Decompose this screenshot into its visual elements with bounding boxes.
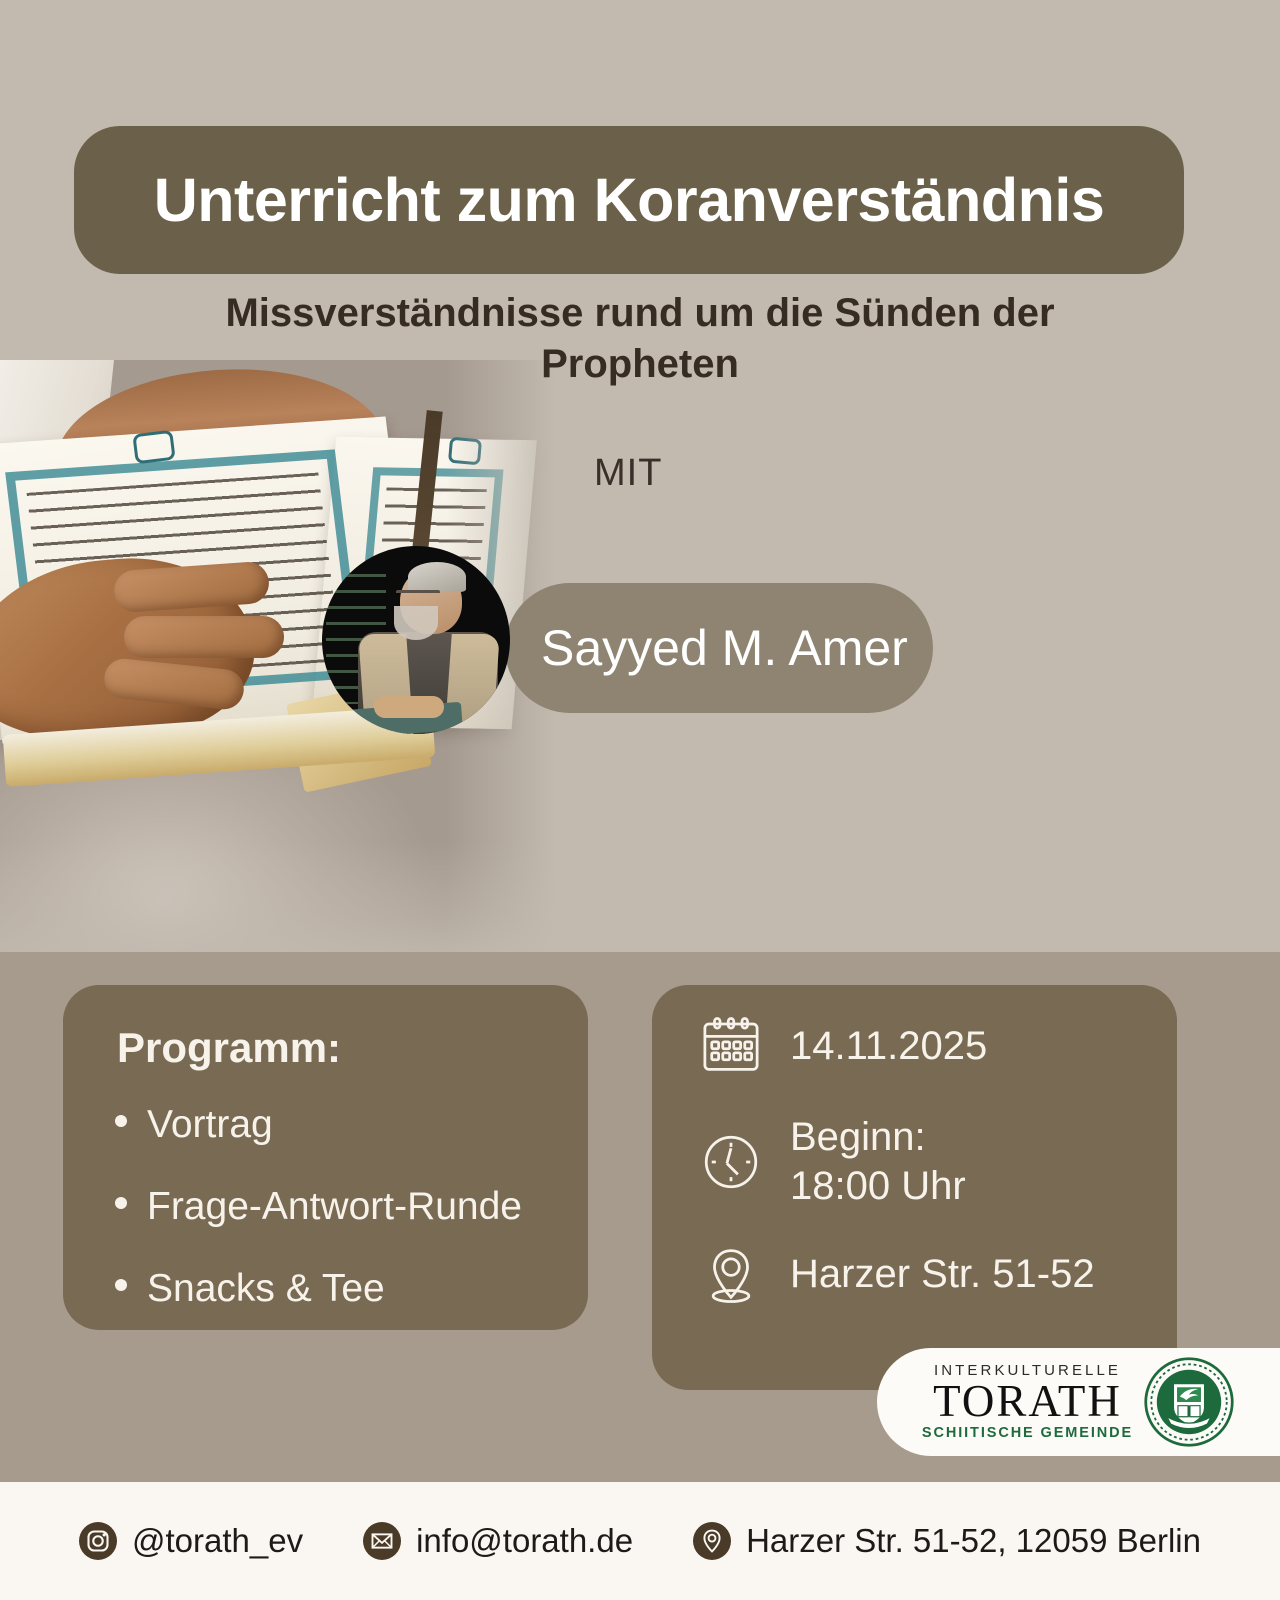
program-title: Programm: [117,1024,341,1072]
email-address: info@torath.de [416,1522,633,1560]
organization-logo: INTERKULTURELLE TORATH SCHIITISCHE GEMEI… [877,1348,1280,1456]
event-time: Beginn: 18:00 Uhr [790,1113,966,1211]
envelope-icon [363,1522,401,1560]
footer-instagram[interactable]: @torath_ev [79,1522,303,1560]
footer-address[interactable]: Harzer Str. 51-52, 12059 Berlin [693,1522,1201,1560]
time-value: 18:00 Uhr [790,1164,966,1208]
list-item: Frage-Antwort-Runde [115,1185,585,1229]
event-date: 14.11.2025 [790,1022,987,1071]
detail-row-location: Harzer Str. 51-52 [692,1241,1095,1307]
list-item: Vortrag [115,1103,585,1147]
program-list: Vortrag Frage-Antwort-Runde Snacks & Tee [115,1103,585,1349]
avatar [322,546,510,734]
detail-row-time: Beginn: 18:00 Uhr [692,1113,966,1211]
calendar-icon [692,1013,770,1079]
program-card: Programm: Vortrag Frage-Antwort-Runde Sn… [63,985,588,1330]
program-item-label: Vortrag [147,1103,273,1147]
poster-title-bar: Unterricht zum Koranverständnis [74,126,1184,274]
event-poster: Unterricht zum Koranverständnis Missvers… [0,0,1280,1600]
clock-icon [692,1129,770,1195]
bullet-icon [115,1279,127,1291]
logo-main-word: TORATH [933,1379,1122,1424]
logo-wordmark: INTERKULTURELLE TORATH SCHIITISCHE GEMEI… [922,1363,1133,1441]
speaker-pill: Sayyed M. Amer [505,583,933,713]
poster-subtitle: Missverständnisse rund um die Sünden der… [140,288,1140,390]
upper-section: Unterricht zum Koranverständnis Missvers… [0,0,1280,952]
time-label: Beginn: [790,1115,926,1159]
postal-address: Harzer Str. 51-52, 12059 Berlin [746,1522,1201,1560]
page-title: Unterricht zum Koranverständnis [154,165,1105,235]
location-pin-icon [693,1522,731,1560]
instagram-icon [79,1522,117,1560]
torath-seal-icon [1143,1356,1235,1448]
location-pin-icon [692,1241,770,1307]
program-item-label: Snacks & Tee [147,1267,385,1311]
logo-bottom-line: SCHIITISCHE GEMEINDE [922,1426,1133,1441]
program-item-label: Frage-Antwort-Runde [147,1185,522,1229]
bullet-icon [115,1115,127,1127]
bullet-icon [115,1197,127,1209]
details-card: 14.11.2025 Beginn: 18:00 [652,985,1177,1390]
list-item: Snacks & Tee [115,1267,585,1311]
footer-email[interactable]: info@torath.de [363,1522,633,1560]
speaker-name: Sayyed M. Amer [541,619,908,677]
instagram-handle: @torath_ev [132,1522,303,1560]
event-address: Harzer Str. 51-52 [790,1250,1095,1299]
contact-footer: @torath_ev info@torath.de [0,1482,1280,1600]
with-label: MIT [594,452,662,495]
detail-row-date: 14.11.2025 [692,1013,987,1079]
